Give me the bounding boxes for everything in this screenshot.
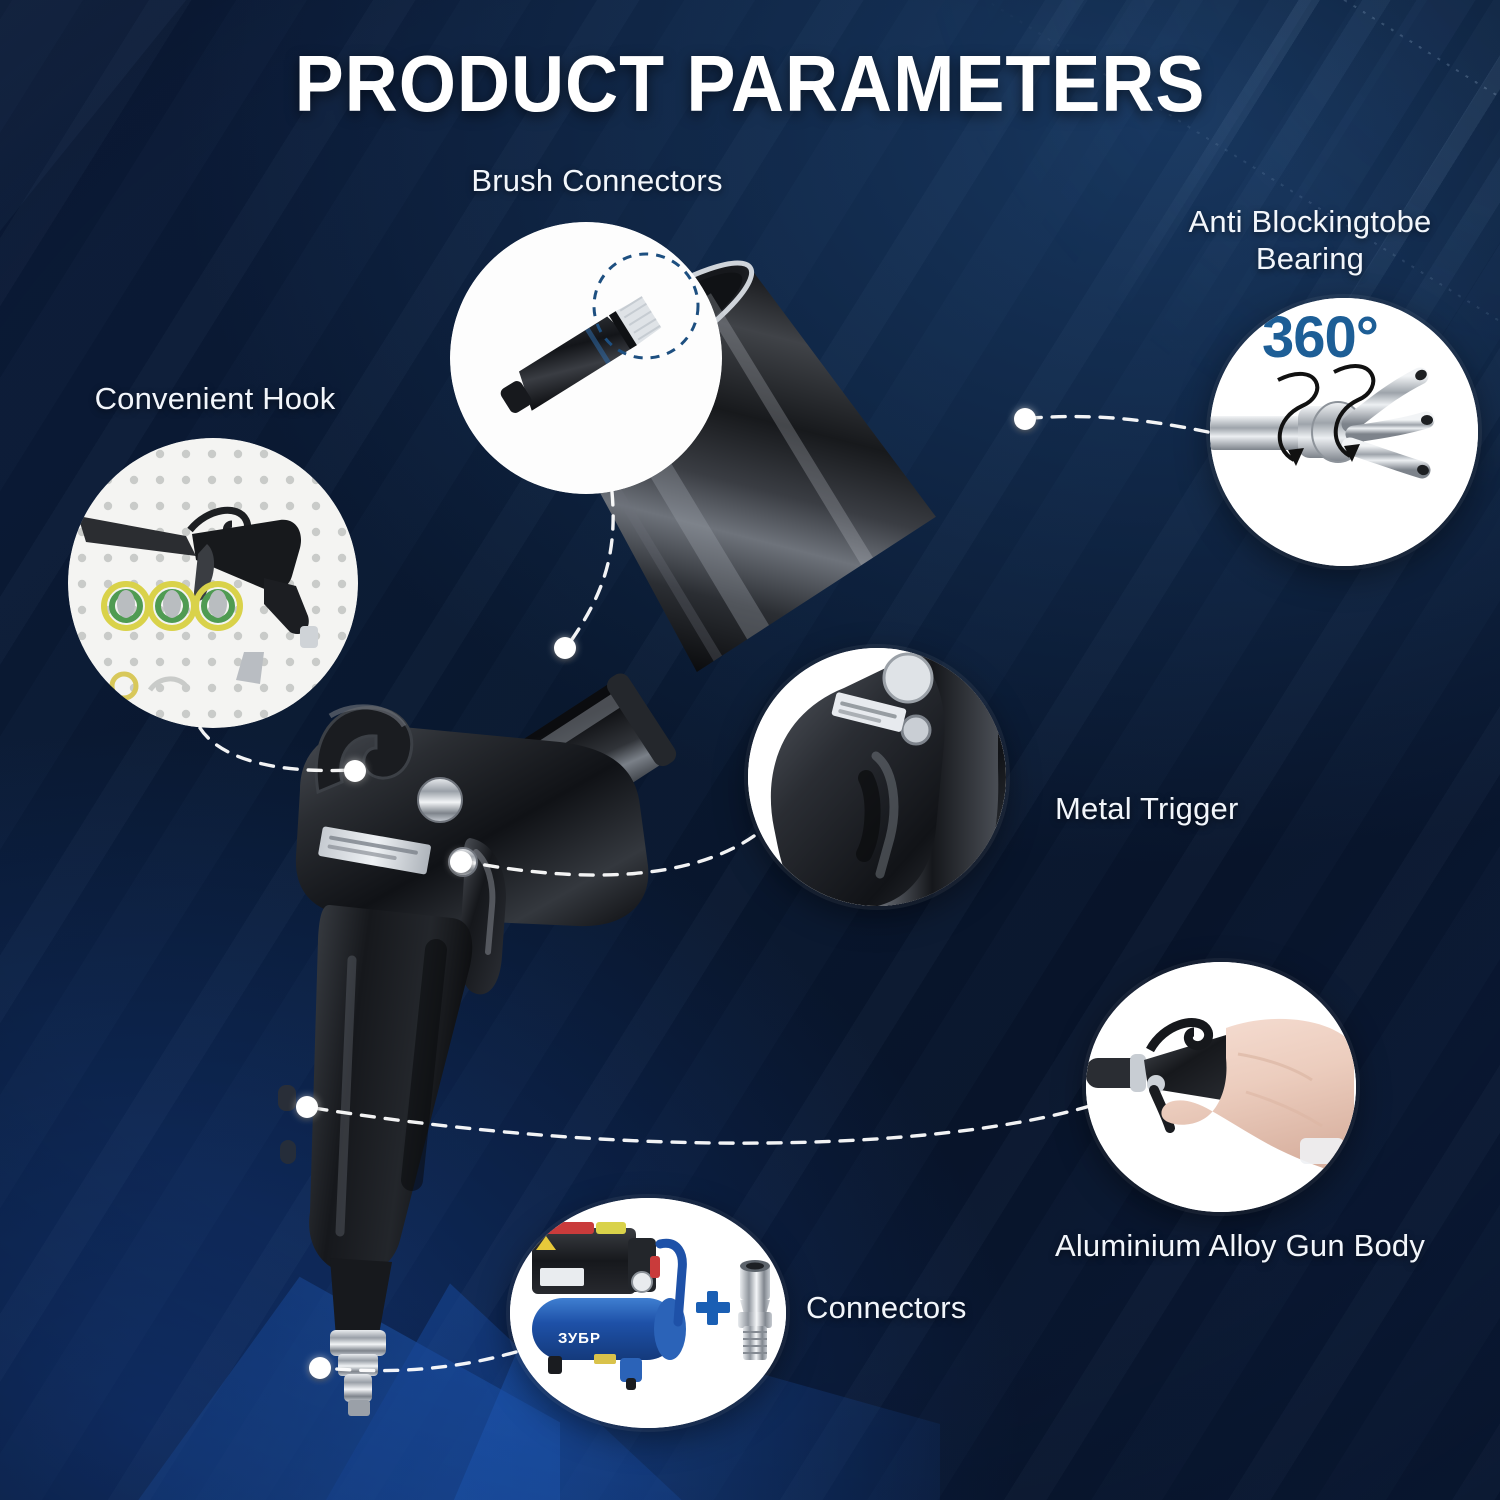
anchor-dot-inlet (309, 1357, 331, 1379)
badge-360-degrees: 360° (1262, 304, 1378, 371)
inset-connectors: ЗУБР (510, 1198, 786, 1428)
compressor-brand-label: ЗУБР (558, 1330, 601, 1347)
anchor-dot-gun-body (296, 1096, 318, 1118)
label-connectors: Connectors (806, 1290, 1066, 1327)
anchor-dot-bearing (1014, 408, 1036, 430)
inset-convenient-hook (68, 438, 358, 728)
inset-brush-connectors (450, 222, 722, 494)
label-convenient-hook: Convenient Hook (50, 381, 380, 418)
body-rivet (418, 778, 462, 822)
anchor-dot-hook (344, 760, 366, 782)
anchor-dot-brush-connectors (554, 637, 576, 659)
inset-anti-blocking-bearing: 360° (1210, 298, 1478, 566)
product-infographic: PRODUCT PARAMETERS (0, 0, 1500, 1500)
air-inlet-fitting (330, 1330, 386, 1416)
inset-metal-trigger (748, 648, 1006, 906)
label-anti-blocking-bearing: Anti Blockingtobe Bearing (1150, 204, 1470, 277)
inset-aluminium-alloy-gun-body (1086, 962, 1356, 1212)
anchor-dot-trigger (450, 851, 472, 873)
gun-grip (309, 905, 472, 1275)
label-metal-trigger: Metal Trigger (1055, 791, 1375, 828)
label-brush-connectors: Brush Connectors (447, 163, 747, 200)
label-aluminium-alloy-gun-body: Aluminium Alloy Gun Body (1020, 1228, 1460, 1265)
